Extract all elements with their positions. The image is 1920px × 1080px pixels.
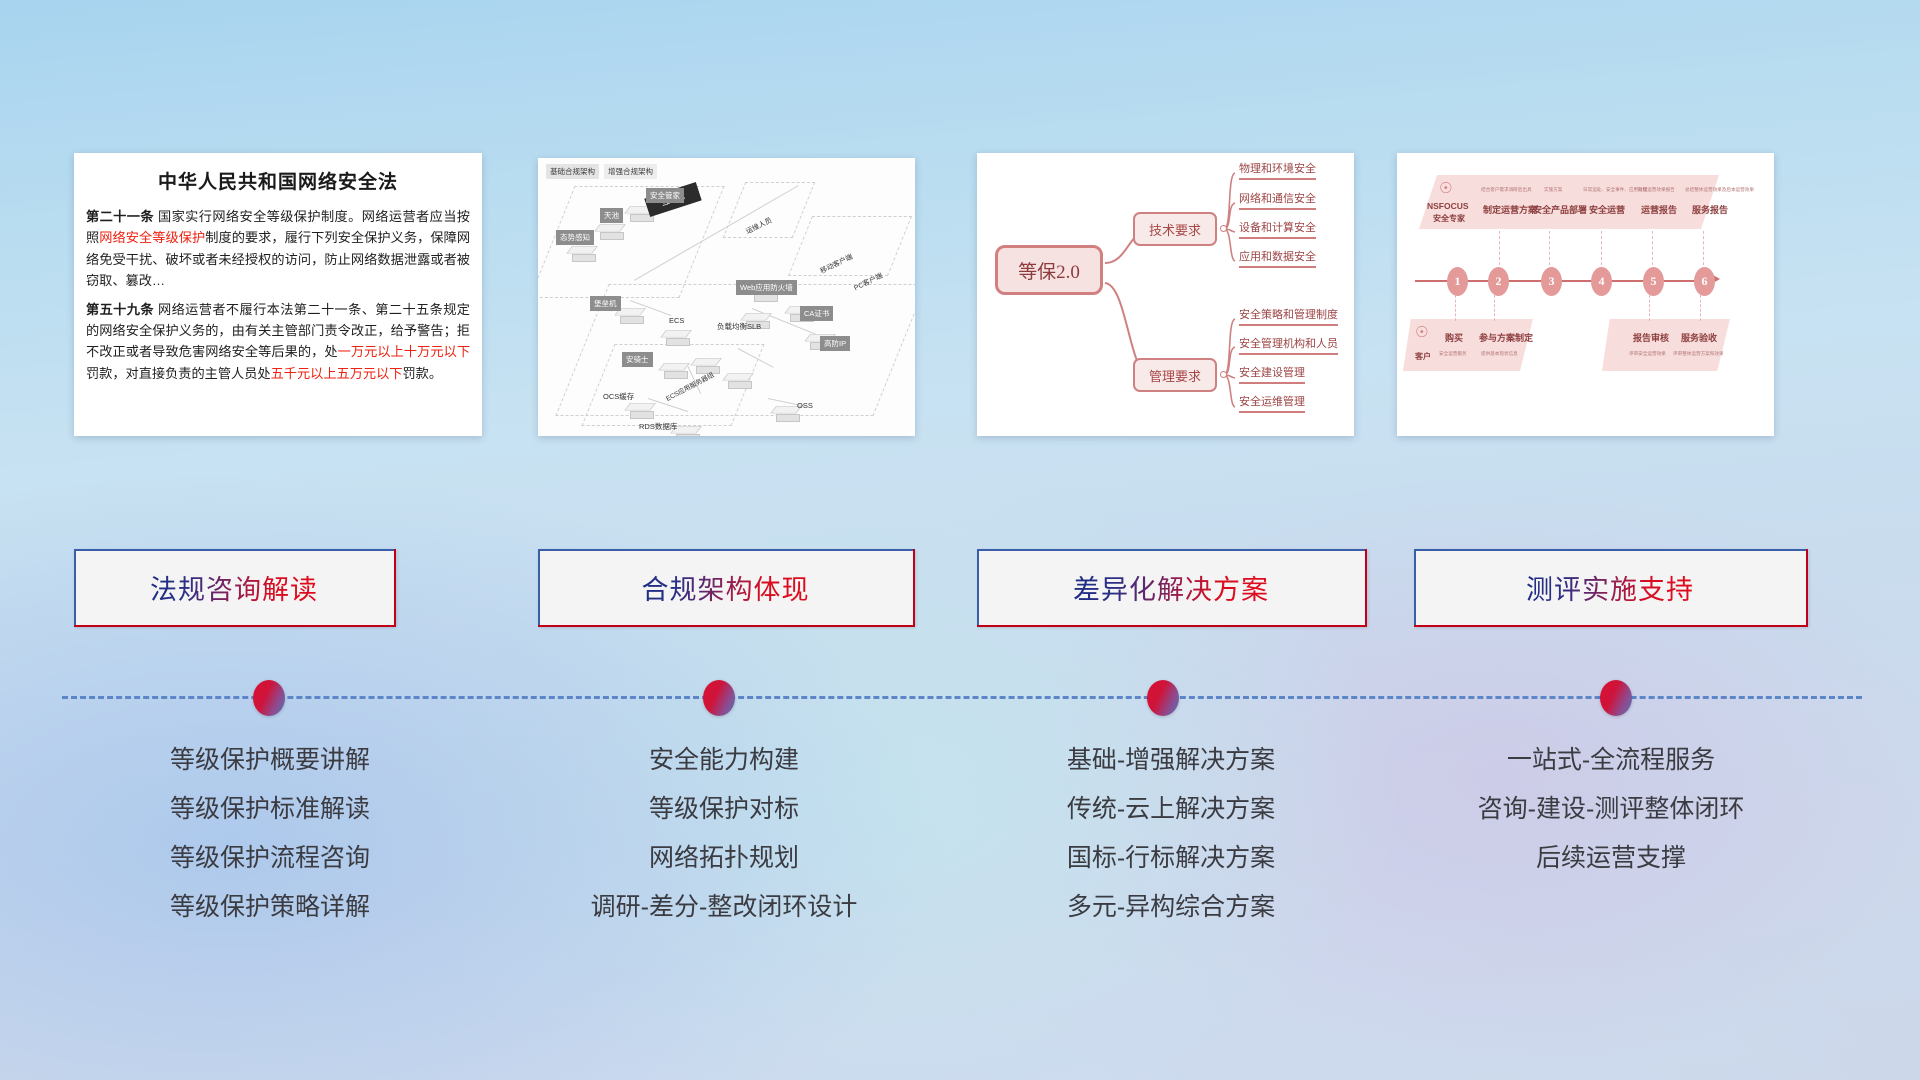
heading-label: 法规咨询解读 [150,568,318,607]
heading-label: 差异化解决方案 [1073,568,1269,607]
node-label-anqishi: 安骑士 [622,352,653,367]
step-title: 服务报告 [1692,203,1728,216]
heading-label: 测评实施支持 [1526,568,1694,607]
law-paragraph: 第五十九条 网络运营者不履行本法第二十一条、第二十五条规定的网络安全保护义务的，… [86,299,470,385]
timeline-tick [1700,295,1701,321]
node-label-ocs-cache: OCS缓存 [600,390,637,403]
node-label-security-butler: 安全管家 [646,188,684,203]
mindmap-leaf: 安全管理机构和人员 [1239,338,1338,355]
law-text-segment: 罚款，对直接负责的主管人员处 [86,366,271,381]
heading-box-assessment-support[interactable]: 测评实施支持 [1414,549,1808,627]
brand-subtitle: 安全专家 [1433,213,1465,224]
column-line: 一站式-全流程服务 [1414,748,1808,773]
zone-internet [723,182,816,238]
column-line: 网络拓扑规划 [528,846,920,871]
mindmap-leaf: 物理和环境安全 [1239,163,1316,180]
column-line: 等级保护策略详解 [74,895,466,920]
mindmap-branch-management[interactable]: 管理要求 [1133,358,1217,392]
column-line: 基础-增强解决方案 [975,748,1367,773]
node-label-bastion-host: 堡垒机 [590,296,621,311]
mindmap-leaf: 应用和数据安全 [1239,251,1316,268]
timeline-tick [1649,295,1650,321]
mindmap-branch-technical[interactable]: 技术要求 [1133,212,1217,246]
step-note: 评审安全运营效果 [1629,351,1666,357]
mindmap-leaf: 安全建设管理 [1239,367,1305,384]
server-cube [728,373,754,393]
heading-box-regulation-consulting[interactable]: 法规咨询解读 [74,549,396,627]
node-label-tianchi: 天池 [600,208,623,223]
column-line: 等级保护标准解读 [74,797,466,822]
expert-person-icon: ☉ [1439,181,1452,196]
step-title: 制定运营方案 [1483,203,1537,216]
law-text-segment: 罚款。 [403,366,443,381]
law-article-number: 第二十一条 [86,209,154,224]
timeline-dot-2[interactable] [703,680,735,716]
column-line: 调研-差分-整改闭环设计 [528,895,920,920]
law-title: 中华人民共和国网络安全法 [74,167,482,194]
step-title: 购买 [1445,331,1463,344]
customer-label: 客户 [1415,351,1431,362]
step-title: 报告审核 [1633,331,1669,344]
step-title: 运营报告 [1641,203,1677,216]
step-title: 服务验收 [1681,331,1717,344]
timeline-step-4[interactable]: 4 [1591,267,1612,296]
tab-basic-compliance[interactable]: 基础合规架构 [546,164,599,179]
step-note: 提供基本现状信息 [1481,351,1518,357]
bottom-column-1: 等级保护概要讲解 等级保护标准解读 等级保护流程咨询 等级保护策略详解 [74,748,466,944]
law-highlight-segment: 五千元以上五万元以下 [271,366,403,381]
node-label-waf: Web应用防火墙 [736,280,797,295]
column-line: 后续运营支撑 [1414,846,1808,871]
heading-box-differentiated-solutions[interactable]: 差异化解决方案 [977,549,1367,627]
column-line: 国标-行标解决方案 [975,846,1367,871]
server-cube [666,330,692,350]
step-note: 评审整体运营方案和效果 [1673,351,1724,357]
card-nsfocus-timeline: ☉ NSFOCUS 安全专家 结合客户需求调研后出具 制定运营方案 实施方案 安… [1397,153,1774,436]
column-line: 咨询-建设-测评整体闭环 [1414,797,1808,822]
timeline-tick [1652,231,1653,265]
card-cloud-architecture: 基础合规架构 增强合规架构 [538,158,915,436]
step-note: 实施方案 [1544,187,1562,193]
law-highlight-segment: 一万元以上十万元以下 [338,344,470,359]
server-cube [620,308,646,328]
card-mindmap-dengbao: 等保2.0 技术要求 物理和环境安全 网络和通信安全 设备和计算安全 应用和数据… [977,153,1354,436]
timeline-step-2[interactable]: 2 [1488,267,1509,296]
timeline-dot-3[interactable] [1147,680,1179,716]
step-title: 参与方案制定 [1479,331,1533,344]
server-cube [600,224,626,244]
timeline-tick [1499,231,1500,265]
mindmap-leaf: 网络和通信安全 [1239,193,1316,210]
bottom-column-2: 安全能力构建 等级保护对标 网络拓扑规划 调研-差分-整改闭环设计 [528,748,920,944]
law-highlight-segment: 网络安全等级保护 [99,230,205,245]
tab-enhanced-compliance[interactable]: 增强合规架构 [604,164,657,179]
mindmap-collapse-dot[interactable] [1220,225,1227,232]
mindmap-root-node[interactable]: 等保2.0 [995,245,1103,295]
law-article-number: 第五十九条 [86,302,154,317]
node-label-oss: OSS [794,400,816,411]
slide-root: 中华人民共和国网络安全法 第二十一条 国家实行网络安全等级保护制度。网络运营者应… [0,0,1920,1080]
customer-person-icon: ☉ [1415,325,1428,340]
timeline-tick [1601,231,1602,265]
timeline-dot-1[interactable] [253,680,285,716]
bottom-column-4: 一站式-全流程服务 咨询-建设-测评整体闭环 后续运营支撑 [1414,748,1808,895]
step-note: 阶段运营效果报告 [1638,187,1675,193]
step-note: 总结整体运营效果及后本运营效果 [1685,187,1754,193]
column-line: 安全能力构建 [528,748,920,773]
timeline-step-3[interactable]: 3 [1541,267,1562,296]
law-paragraph: 第二十一条 国家实行网络安全等级保护制度。网络运营者应当按照网络安全等级保护制度… [86,206,470,292]
mindmap-leaf: 安全策略和管理制度 [1239,309,1338,326]
step-title: 安全产品部署 [1533,203,1587,216]
mindmap-leaf: 设备和计算安全 [1239,222,1316,239]
node-label-situational-awareness: 态势感知 [556,230,594,245]
card-law-text: 中华人民共和国网络安全法 第二十一条 国家实行网络安全等级保护制度。网络运营者应… [74,153,482,436]
timeline-tick [1549,231,1550,265]
column-line: 等级保护概要讲解 [74,748,466,773]
timeline-step-1[interactable]: 1 [1447,267,1468,296]
heading-box-compliance-architecture[interactable]: 合规架构体现 [538,549,915,627]
law-body: 第二十一条 国家实行网络安全等级保护制度。网络运营者应当按照网络安全等级保护制度… [74,206,482,384]
timeline-step-6[interactable]: 6 [1694,267,1715,296]
node-label-slb: 负载均衡SLB [714,320,764,333]
timeline-tick [1494,295,1495,321]
node-label-ecs: ECS [666,315,687,326]
step-note: 结合客户需求调研后出具 [1481,187,1532,193]
timeline-tick [1455,295,1456,321]
timeline-tick [1703,231,1704,265]
mindmap-leaf: 安全运维管理 [1239,396,1305,413]
node-label-ca-certificate: CA证书 [800,306,833,321]
brand-name: NSFOCUS [1427,201,1469,211]
step-title: 安全运营 [1589,203,1625,216]
heading-label: 合规架构体现 [642,568,810,607]
node-label-anti-ddos-ip: 高防IP [820,336,850,351]
step-note: 安全运营服务 [1439,351,1467,357]
timeline-rail [62,696,1862,699]
node-label-rds-database: RDS数据库 [636,420,680,433]
timeline-step-5[interactable]: 5 [1643,267,1664,296]
column-line: 传统-云上解决方案 [975,797,1367,822]
column-line: 多元-异构综合方案 [975,895,1367,920]
architecture-tabs: 基础合规架构 增强合规架构 [546,164,657,179]
zone-clients [788,216,912,276]
customer-band-right [1602,319,1730,371]
mindmap-collapse-dot[interactable] [1220,371,1227,378]
column-line: 等级保护流程咨询 [74,846,466,871]
timeline-dot-4[interactable] [1600,680,1632,716]
bottom-column-3: 基础-增强解决方案 传统-云上解决方案 国标-行标解决方案 多元-异构综合方案 [975,748,1367,944]
column-line: 等级保护对标 [528,797,920,822]
server-cube [572,246,598,266]
